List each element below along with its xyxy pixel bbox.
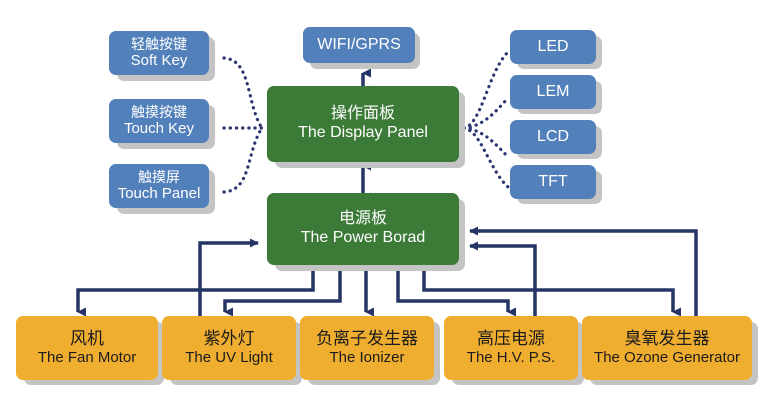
- node-label-en: LEM: [537, 83, 570, 102]
- node-label-en: LED: [537, 38, 568, 57]
- node-label-en: The Ionizer: [329, 349, 404, 367]
- node-uv-light[interactable]: 紫外灯 The UV Light: [162, 316, 296, 380]
- wire-ozone-to-power: [470, 231, 696, 318]
- wire-display-to-lem: [464, 98, 508, 128]
- node-label-cn: 高压电源: [477, 329, 545, 349]
- node-label-en: Touch Key: [124, 120, 194, 138]
- node-label-en: The H.V. P.S.: [467, 349, 555, 367]
- node-label-en: TFT: [538, 173, 567, 192]
- wire-power-to-ozone: [424, 268, 673, 312]
- wire-uv-to-power: [200, 243, 258, 318]
- node-label-en: Soft Key: [131, 52, 188, 70]
- node-label-cn: 臭氧发生器: [625, 329, 710, 349]
- node-fan-motor[interactable]: 风机 The Fan Motor: [16, 316, 158, 380]
- node-label-en: WIFI/GPRS: [317, 36, 401, 55]
- node-touch-panel[interactable]: 触摸屏 Touch Panel: [109, 164, 209, 208]
- node-label-cn: 操作面板: [331, 105, 395, 124]
- wire-display-to-led: [464, 52, 508, 128]
- node-power-board[interactable]: 电源板 The Power Borad: [267, 193, 459, 265]
- node-label-en: The Power Borad: [301, 229, 426, 248]
- wire-power-to-uv: [225, 268, 340, 312]
- block-diagram-canvas: 轻触按键 Soft Key 触摸按键 Touch Key 触摸屏 Touch P…: [0, 0, 772, 405]
- node-label-cn: 风机: [70, 329, 104, 349]
- node-label-en: LCD: [537, 128, 569, 147]
- wire-hvps-to-power: [470, 246, 535, 318]
- node-label-cn: 轻触按键: [131, 36, 187, 53]
- node-touch-key[interactable]: 触摸按键 Touch Key: [109, 99, 209, 143]
- node-label-en: The Display Panel: [298, 124, 428, 143]
- node-label-en: The Ozone Generator: [594, 349, 740, 367]
- node-label-en: Touch Panel: [118, 185, 201, 203]
- wire-touchpanel-to-display: [224, 128, 262, 192]
- node-display-panel[interactable]: 操作面板 The Display Panel: [267, 86, 459, 162]
- node-ionizer[interactable]: 负离子发生器 The Ionizer: [300, 316, 434, 380]
- wire-power-to-hvps: [398, 268, 508, 312]
- node-lem[interactable]: LEM: [510, 75, 596, 109]
- node-label-cn: 负离子发生器: [316, 329, 418, 349]
- wire-display-to-tft: [464, 128, 508, 187]
- node-label-cn: 电源板: [339, 210, 387, 229]
- node-wifi-gprs[interactable]: WIFI/GPRS: [303, 27, 415, 63]
- node-tft[interactable]: TFT: [510, 165, 596, 199]
- node-label-cn: 触摸按键: [131, 104, 187, 121]
- node-label-cn: 紫外灯: [204, 329, 255, 349]
- node-label-en: The Fan Motor: [38, 349, 136, 367]
- wire-power-to-fan: [78, 268, 313, 312]
- node-label-cn: 触摸屏: [138, 169, 180, 186]
- wire-softkey-to-display: [224, 58, 262, 128]
- wire-display-to-lcd: [464, 128, 508, 157]
- node-hv-ps[interactable]: 高压电源 The H.V. P.S.: [444, 316, 578, 380]
- node-soft-key[interactable]: 轻触按键 Soft Key: [109, 31, 209, 75]
- node-lcd[interactable]: LCD: [510, 120, 596, 154]
- node-led[interactable]: LED: [510, 30, 596, 64]
- node-label-en: The UV Light: [185, 349, 273, 367]
- node-ozone-generator[interactable]: 臭氧发生器 The Ozone Generator: [582, 316, 752, 380]
